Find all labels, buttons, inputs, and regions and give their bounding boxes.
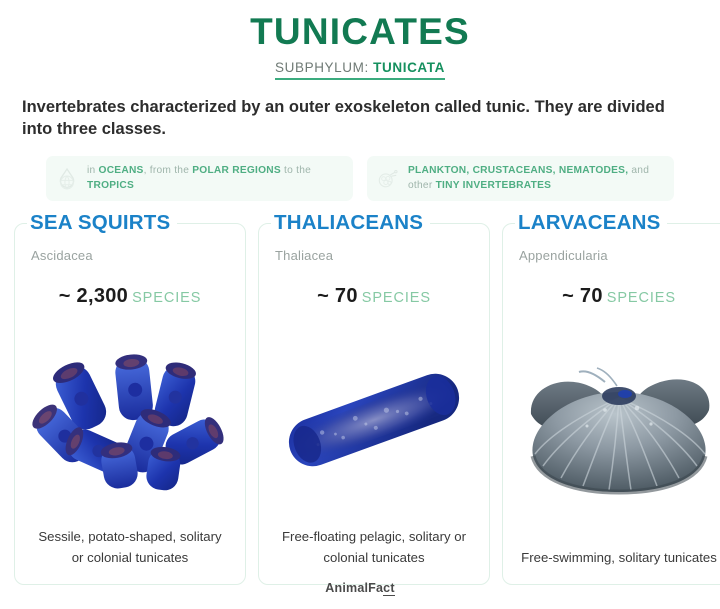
species-word: SPECIES bbox=[607, 290, 676, 306]
diet-pill-text: PLANKTON, CRUSTACEANS, NEMATODES, and ot… bbox=[408, 164, 664, 194]
subphylum-line: SUBPHYLUM: TUNICATA bbox=[275, 60, 445, 80]
card-title: THALIACEANS bbox=[271, 211, 430, 235]
info-pills: in OCEANS, from the POLAR REGIONS to the… bbox=[46, 156, 674, 201]
card-description: Free-swimming, solitary tunicates bbox=[513, 542, 720, 570]
globe-water-icon bbox=[56, 167, 78, 191]
card-species-line: ~ 70SPECIES bbox=[269, 285, 479, 308]
subphylum-value: TUNICATA bbox=[373, 60, 445, 75]
animalfact-logo: AnimalFact bbox=[325, 581, 394, 595]
class-cards: SEA SQUIRTS Ascidacea ~ 2,300SPECIES bbox=[14, 223, 706, 585]
footer: AnimalFact bbox=[0, 579, 720, 597]
card-description: Free-floating pelagic, solitary or colon… bbox=[269, 521, 479, 570]
species-count: ~ 70 bbox=[317, 285, 358, 307]
infographic-root: TUNICATES SUBPHYLUM: TUNICATA Invertebra… bbox=[0, 0, 720, 609]
card-larvaceans[interactable]: LARVACEANS Appendicularia ~ 70SPECIES bbox=[502, 223, 720, 585]
plankton-icon bbox=[377, 167, 399, 191]
species-word: SPECIES bbox=[362, 290, 431, 306]
header: TUNICATES SUBPHYLUM: TUNICATA bbox=[0, 0, 720, 80]
sea-squirt-colony-photo bbox=[25, 314, 235, 519]
card-scientific-name: Appendicularia bbox=[519, 248, 720, 263]
page-title: TUNICATES bbox=[0, 13, 720, 52]
card-species-line: ~ 2,300SPECIES bbox=[25, 285, 235, 308]
salp-photo bbox=[269, 314, 479, 519]
species-word: SPECIES bbox=[132, 290, 201, 306]
habitat-pill: in OCEANS, from the POLAR REGIONS to the… bbox=[46, 156, 353, 201]
larvacean-house-photo bbox=[513, 314, 720, 540]
card-sea-squirts[interactable]: SEA SQUIRTS Ascidacea ~ 2,300SPECIES bbox=[14, 223, 246, 585]
species-count: ~ 70 bbox=[562, 285, 603, 307]
species-count: ~ 2,300 bbox=[59, 285, 128, 307]
card-title: SEA SQUIRTS bbox=[27, 211, 177, 235]
subphylum-label: SUBPHYLUM: bbox=[275, 60, 369, 75]
card-scientific-name: Thaliacea bbox=[275, 248, 479, 263]
intro-text: Invertebrates characterized by an outer … bbox=[22, 96, 698, 141]
card-thaliaceans[interactable]: THALIACEANS Thaliacea ~ 70SPECIES bbox=[258, 223, 490, 585]
card-species-line: ~ 70SPECIES bbox=[513, 285, 720, 308]
card-description: Sessile, potato-shaped, solitary or colo… bbox=[25, 521, 235, 570]
card-title: LARVACEANS bbox=[515, 211, 667, 235]
habitat-pill-text: in OCEANS, from the POLAR REGIONS to the… bbox=[87, 164, 343, 194]
diet-pill: PLANKTON, CRUSTACEANS, NEMATODES, and ot… bbox=[367, 156, 674, 201]
card-scientific-name: Ascidacea bbox=[31, 248, 235, 263]
logo-part-b: Fa bbox=[368, 581, 383, 595]
logo-part-a: Animal bbox=[325, 581, 368, 595]
logo-part-c: ct bbox=[383, 581, 395, 596]
